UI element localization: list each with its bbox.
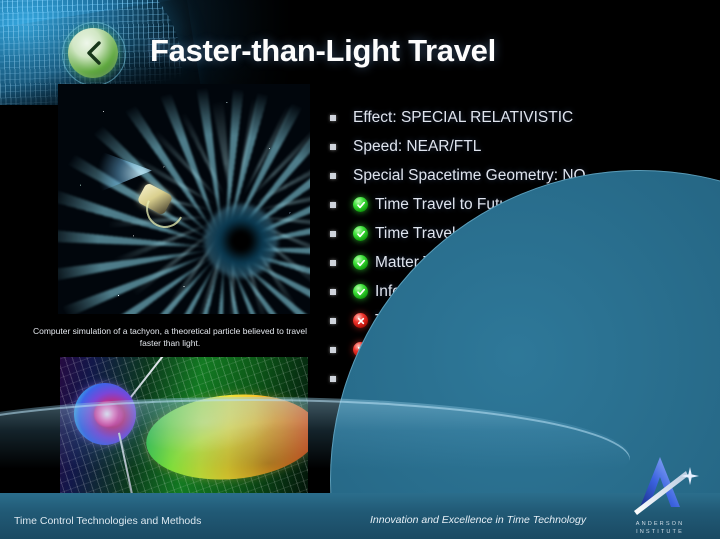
logo-subname: INSTITUTE xyxy=(616,529,704,535)
list-item: Effect: SPECIAL RELATIVISTIC xyxy=(330,103,710,132)
image-caption: Computer simulation of a tachyon, a theo… xyxy=(30,325,310,349)
bullet-marker xyxy=(330,173,336,179)
bullet-label: Special Spacetime Geometry: NO xyxy=(353,167,586,185)
bullet-marker xyxy=(330,260,336,266)
logo-name: ANDERSON xyxy=(616,521,704,527)
footer-tagline: Innovation and Excellence in Time Techno… xyxy=(370,514,586,526)
bullet-label: Speed: NEAR/FTL xyxy=(353,138,481,156)
bullet-marker xyxy=(330,318,336,324)
bullet-label: Effect: SPECIAL RELATIVISTIC xyxy=(353,109,573,127)
bullet-marker xyxy=(330,144,336,150)
tachyon-vortex-image xyxy=(58,84,310,314)
bullet-marker xyxy=(330,347,336,353)
check-icon xyxy=(353,197,368,212)
anderson-institute-logo-icon xyxy=(616,449,704,519)
chevron-left-icon[interactable] xyxy=(68,28,118,78)
cross-icon xyxy=(353,313,368,328)
vortex-swirl-inner xyxy=(58,84,310,314)
bullet-marker xyxy=(330,231,336,237)
bullet-marker xyxy=(330,289,336,295)
check-icon xyxy=(353,284,368,299)
check-icon xyxy=(353,255,368,270)
footer-left-text: Time Control Technologies and Methods xyxy=(14,515,201,527)
bullet-marker xyxy=(330,202,336,208)
vortex-core xyxy=(204,204,278,278)
page-title: Faster-than-Light Travel xyxy=(150,33,496,69)
list-item: Speed: NEAR/FTL xyxy=(330,132,710,161)
slide-root: Faster-than-Light Travel Computer simula… xyxy=(0,0,720,539)
check-icon xyxy=(353,226,368,241)
bullet-marker xyxy=(330,115,336,121)
bullet-marker xyxy=(330,376,336,382)
